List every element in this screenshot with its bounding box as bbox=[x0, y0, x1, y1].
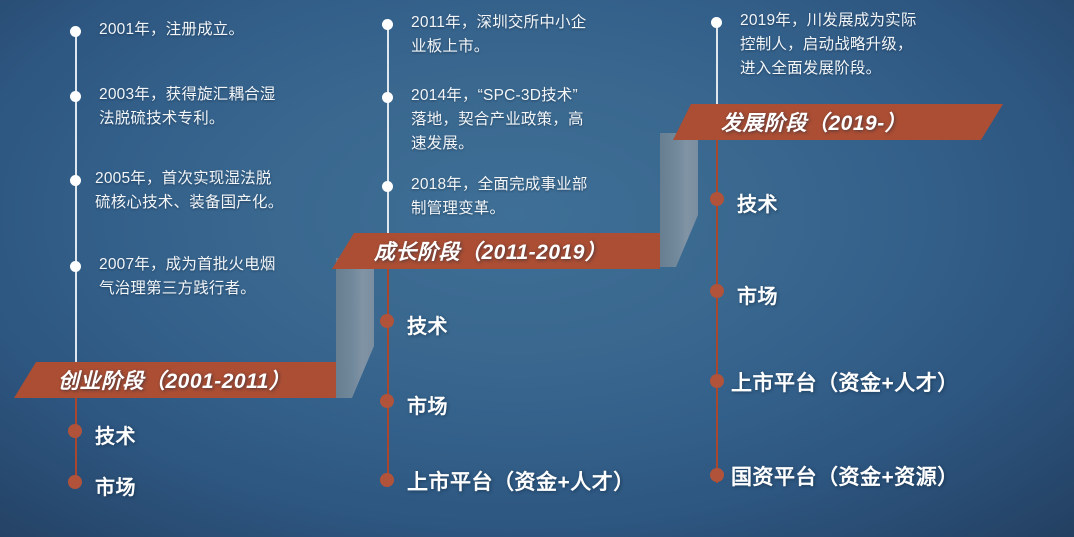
stage1-note-1: 2001年，注册成立。 bbox=[99, 18, 244, 42]
stage1-note-dot-2 bbox=[70, 91, 81, 102]
stage3-banner[interactable]: 发展阶段（2019-） bbox=[673, 104, 1003, 140]
stage3-item-dot-4 bbox=[710, 468, 724, 482]
stage3-item-4: 国资平台（资金+资源） bbox=[731, 461, 959, 491]
stage1-note-line bbox=[75, 31, 77, 371]
stage1-note-2: 2003年，获得旋汇耦合湿 法脱硫技术专利。 bbox=[99, 83, 276, 131]
stage3-note-dot-1 bbox=[711, 17, 722, 28]
stage2-item-1: 技术 bbox=[407, 310, 448, 339]
stage1-note-3: 2005年，首次实现湿法脱 硫核心技术、装备国产化。 bbox=[95, 167, 283, 215]
stage2-note-2: 2014年，“SPC-3D技术” 落地，契合产业政策，高 速发展。 bbox=[411, 84, 584, 156]
stage3-item-3: 上市平台（资金+人才） bbox=[731, 367, 959, 397]
stage2-note-dot-3 bbox=[382, 181, 393, 192]
stage2-to-stage3-step-riser bbox=[660, 133, 698, 267]
stage2-note-line bbox=[387, 24, 389, 239]
stage2-note-1: 2011年，深圳交所中小企 业板上市。 bbox=[411, 11, 586, 59]
stage1-item-dot-1 bbox=[68, 424, 82, 438]
stage1-note-dot-1 bbox=[70, 26, 81, 37]
stage1-banner[interactable]: 创业阶段（2001-2011） bbox=[14, 362, 336, 398]
stage3-item-dot-1 bbox=[710, 192, 724, 206]
stage2-banner-label: 成长阶段（2011-2019） bbox=[374, 236, 606, 266]
stage2-item-line bbox=[387, 262, 389, 487]
stage1-note-dot-3 bbox=[70, 175, 81, 186]
stage2-item-3: 上市平台（资金+人才） bbox=[407, 466, 635, 496]
stage2-item-dot-3 bbox=[380, 473, 394, 487]
stage3-item-line bbox=[716, 138, 718, 483]
stage3-banner-label: 发展阶段（2019-） bbox=[721, 107, 906, 137]
stage2-item-2: 市场 bbox=[407, 390, 448, 419]
stage2-note-dot-2 bbox=[382, 92, 393, 103]
stage3-item-dot-2 bbox=[710, 284, 724, 298]
stage3-item-dot-3 bbox=[710, 374, 724, 388]
stage3-item-1: 技术 bbox=[737, 188, 778, 217]
stage3-note-line bbox=[716, 22, 718, 112]
stage2-item-dot-1 bbox=[380, 314, 394, 328]
stage1-banner-label: 创业阶段（2001-2011） bbox=[58, 365, 290, 395]
timeline-slide: 2001年，注册成立。 2003年，获得旋汇耦合湿 法脱硫技术专利。 2005年… bbox=[0, 0, 1074, 537]
stage2-item-dot-2 bbox=[380, 394, 394, 408]
stage3-item-2: 市场 bbox=[737, 280, 778, 309]
stage1-item-line bbox=[75, 396, 77, 486]
stage2-note-3: 2018年，全面完成事业部 制管理变革。 bbox=[411, 173, 588, 221]
stage2-banner[interactable]: 成长阶段（2011-2019） bbox=[332, 233, 660, 269]
stage1-note-4: 2007年，成为首批火电烟 气治理第三方践行者。 bbox=[99, 253, 276, 301]
stage1-item-dot-2 bbox=[68, 475, 82, 489]
stage1-note-dot-4 bbox=[70, 261, 81, 272]
stage1-item-2: 市场 bbox=[95, 471, 136, 500]
stage2-note-dot-1 bbox=[382, 19, 393, 30]
stage1-item-1: 技术 bbox=[95, 420, 136, 449]
stage3-note-1: 2019年，川发展成为实际 控制人，启动战略升级， 进入全面发展阶段。 bbox=[740, 9, 917, 81]
stage1-to-stage2-step-riser bbox=[336, 258, 374, 398]
